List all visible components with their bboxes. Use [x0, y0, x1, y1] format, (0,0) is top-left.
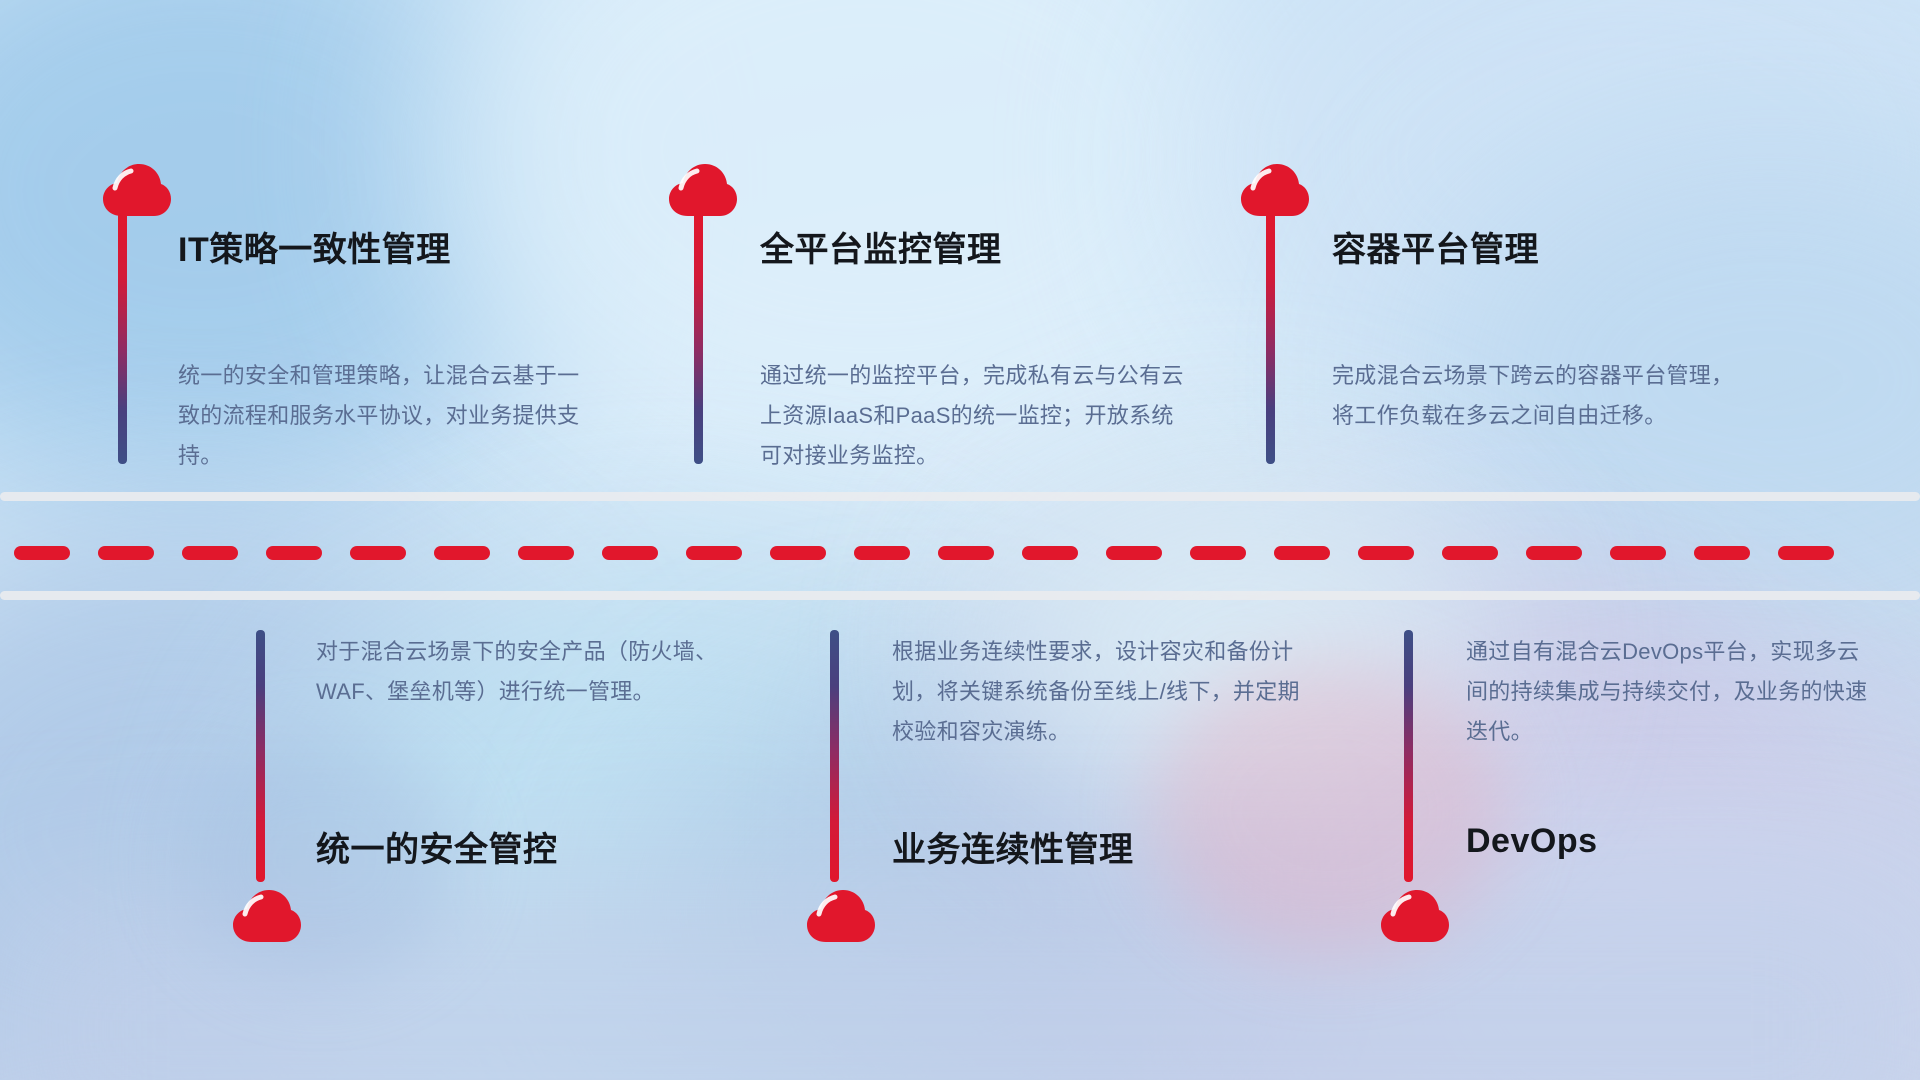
- cloud-icon: [232, 888, 302, 944]
- dash-segment: [1358, 546, 1414, 560]
- cloud-icon: [806, 888, 876, 944]
- dash-segment: [854, 546, 910, 560]
- panel-heading: 容器平台管理: [1332, 222, 1539, 271]
- dash-segment: [266, 546, 322, 560]
- panel-body-text: 对于混合云场景下的安全产品（防火墙、WAF、堡垒机等）进行统一管理。: [316, 632, 736, 712]
- dash-segment: [182, 546, 238, 560]
- panel-heading: 统一的安全管控: [316, 822, 558, 871]
- dash-segment: [686, 546, 742, 560]
- dash-segment: [350, 546, 406, 560]
- panel-heading: 全平台监控管理: [760, 222, 1002, 271]
- panel-heading: IT策略一致性管理: [178, 222, 451, 271]
- cloud-icon: [102, 162, 172, 218]
- dash-segment: [1610, 546, 1666, 560]
- connector-line: [1404, 630, 1413, 882]
- dash-segment: [1442, 546, 1498, 560]
- connector-line: [256, 630, 265, 882]
- dash-segment: [1190, 546, 1246, 560]
- dash-segment: [602, 546, 658, 560]
- cloud-icon: [1380, 888, 1450, 944]
- dash-segment: [770, 546, 826, 560]
- panel-body-text: 完成混合云场景下跨云的容器平台管理，将工作负载在多云之间自由迁移。: [1332, 356, 1752, 436]
- connector-line: [830, 630, 839, 882]
- panel-body-text: 通过统一的监控平台，完成私有云与公有云上资源IaaS和PaaS的统一监控；开放系…: [760, 356, 1190, 476]
- cloud-icon: [668, 162, 738, 218]
- panel-heading: DevOps: [1466, 822, 1598, 861]
- dash-segment: [1022, 546, 1078, 560]
- panel-body-text: 通过自有混合云DevOps平台，实现多云间的持续集成与持续交付，及业务的快速迭代…: [1466, 632, 1876, 752]
- dash-segment: [1694, 546, 1750, 560]
- dash-segment: [98, 546, 154, 560]
- divider-rule-bottom: [0, 591, 1920, 600]
- panel-body-text: 根据业务连续性要求，设计容灾和备份计划，将关键系统备份至线上/线下，并定期校验和…: [892, 632, 1312, 752]
- dash-segment: [1526, 546, 1582, 560]
- dash-segment: [518, 546, 574, 560]
- dash-segment: [1274, 546, 1330, 560]
- connector-line: [1266, 212, 1275, 464]
- dashed-separator: [0, 546, 1920, 560]
- divider-rule-top: [0, 492, 1920, 501]
- infographic-canvas: IT策略一致性管理 统一的安全和管理策略，让混合云基于一致的流程和服务水平协议，…: [0, 0, 1920, 1080]
- dash-segment: [938, 546, 994, 560]
- dash-segment: [1106, 546, 1162, 560]
- connector-line: [694, 212, 703, 464]
- connector-line: [118, 212, 127, 464]
- cloud-icon: [1240, 162, 1310, 218]
- panel-heading: 业务连续性管理: [892, 822, 1134, 871]
- dash-segment: [14, 546, 70, 560]
- dash-segment: [1778, 546, 1834, 560]
- dash-segment: [434, 546, 490, 560]
- panel-body-text: 统一的安全和管理策略，让混合云基于一致的流程和服务水平协议，对业务提供支持。: [178, 356, 598, 476]
